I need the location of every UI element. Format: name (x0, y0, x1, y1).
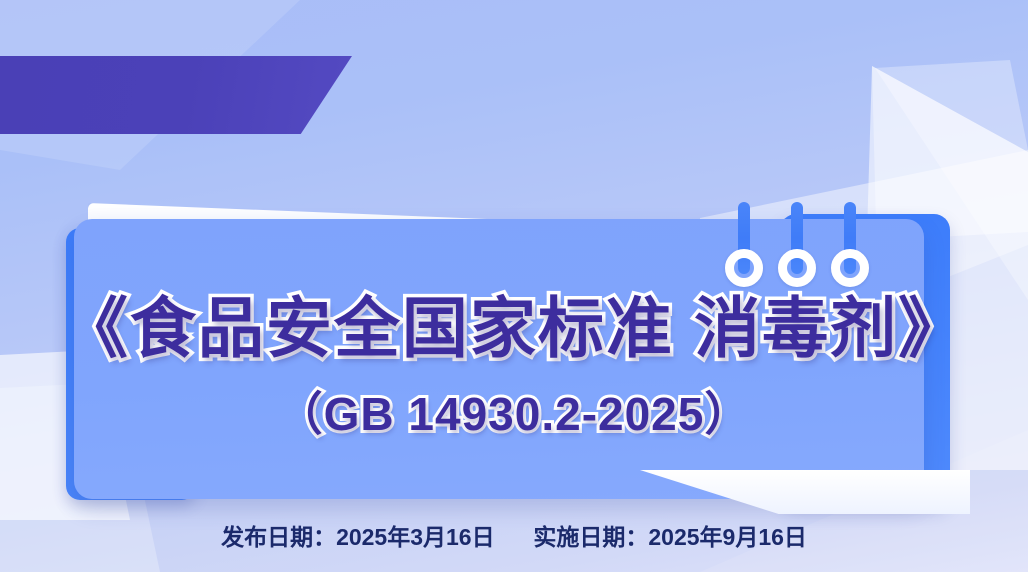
release-date: 发布日期：2025年3月16日 (221, 524, 495, 550)
standard-title: 《食品安全国家标准 消毒剂》 (0, 295, 1028, 361)
date-footer: 发布日期：2025年3月16日 实施日期：2025年9月16日 (0, 518, 1028, 552)
read-in-one-picture-ribbon (0, 56, 352, 134)
infographic-poster: 一图读懂 《食品安全国家标准 消毒剂》 （GB 14930.2-2025） 发布… (0, 0, 1028, 572)
binder-ring (831, 249, 869, 287)
binder-ring (725, 249, 763, 287)
standard-code-subtitle: （GB 14930.2-2025） (0, 391, 1028, 437)
binder-ring (778, 249, 816, 287)
effective-date: 实施日期：2025年9月16日 (533, 524, 807, 550)
